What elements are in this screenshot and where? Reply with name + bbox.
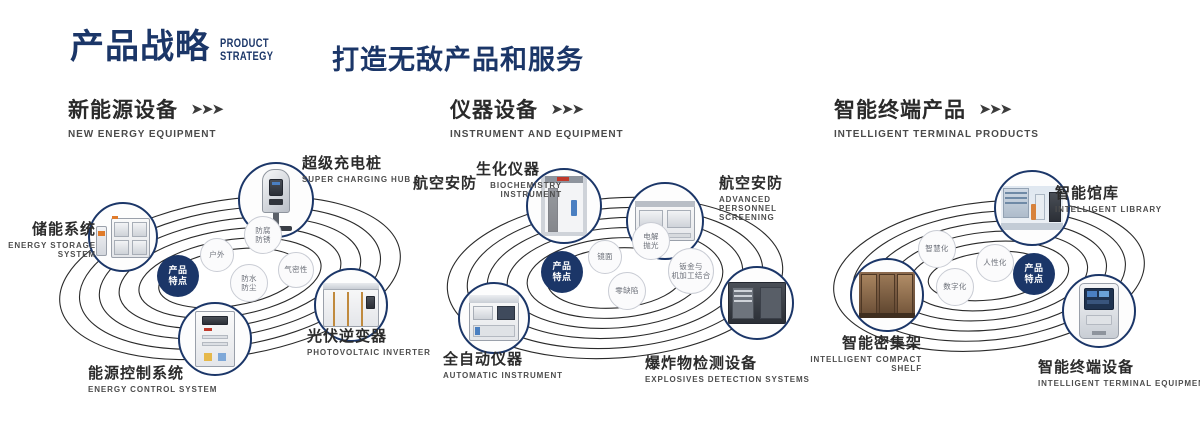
product-circle-compact-shelf[interactable] xyxy=(850,258,924,332)
page-subtitle: 打造无敌产品和服务 xyxy=(332,38,584,77)
product-circle-explosives-detector[interactable] xyxy=(720,266,794,340)
badge-line2: 特点 xyxy=(552,272,571,283)
label-cn: 智能终端设备 xyxy=(1038,356,1200,377)
section-title-en: NEW ENERGY EQUIPMENT xyxy=(68,129,222,140)
label-advanced-personnel-screening: 航空安防 ADVANCED PERSONNEL SCREENING xyxy=(719,172,823,222)
label-cn: 光伏逆变器 xyxy=(307,325,431,346)
label-en: ADVANCED PERSONNEL SCREENING xyxy=(719,195,823,222)
label-en: ENERGY CONTROL SYSTEM xyxy=(88,385,217,394)
feature-text: 数字化 xyxy=(943,282,966,292)
label-cn: 生化仪器 xyxy=(476,158,562,179)
feature-bubble-humanized[interactable]: 人性化 xyxy=(976,244,1014,282)
label-cn: 航空安防 xyxy=(719,172,823,193)
section-title-cn: 新能源设备 xyxy=(68,94,178,124)
chevrons-right-icon: ➤➤➤ xyxy=(550,100,582,118)
label-biochemistry-instrument: 生化仪器 BIOCHEMISTRY INSTRUMENT xyxy=(476,158,562,199)
feature-bubble-sheetmetal-machining[interactable]: 钣金与 机加工结合 xyxy=(668,248,714,294)
label-aviation-security-left: 航空安防 xyxy=(413,172,477,193)
label-cn: 智能馆库 xyxy=(1055,182,1162,203)
feature-text: 机加工结合 xyxy=(672,271,711,281)
chevrons-right-icon: ➤➤➤ xyxy=(190,100,222,118)
center-badge-new-energy[interactable]: 产品 特点 xyxy=(158,256,198,296)
label-intelligent-library: 智能馆库 INTELLIGENT LIBRARY xyxy=(1055,182,1162,214)
label-en: AUTOMATIC INSTRUMENT xyxy=(443,371,563,380)
feature-bubble-intelligent[interactable]: 智慧化 xyxy=(918,230,956,268)
label-en: ENERGY STORAGE SYSTEM xyxy=(0,241,96,259)
label-explosives-detection-systems: 爆炸物检测设备 EXPLOSIVES DETECTION SYSTEMS xyxy=(645,352,810,384)
label-en: SUPER CHARGING HUB xyxy=(302,175,411,184)
label-cn: 超级充电桩 xyxy=(302,152,411,173)
feature-text: 防锈 xyxy=(255,235,271,245)
label-en: INTELLIGENT LIBRARY xyxy=(1055,205,1162,214)
feature-text: 钣金与 xyxy=(679,262,702,272)
feature-bubble-zero-defect[interactable]: 零缺陷 xyxy=(608,272,646,310)
feature-text: 人性化 xyxy=(983,258,1006,268)
feature-text: 智慧化 xyxy=(925,244,948,254)
section-title-cn: 智能终端产品 xyxy=(834,94,966,124)
section-title-cn: 仪器设备 xyxy=(450,94,538,124)
product-circle-terminal-kiosk[interactable] xyxy=(1062,274,1136,348)
feature-text: 防水 xyxy=(241,274,257,284)
feature-bubble-electropolishing[interactable]: 电解 抛光 xyxy=(632,222,670,260)
feature-bubble-anticorrosion[interactable]: 防腐 防锈 xyxy=(244,216,282,254)
center-badge-terminal[interactable]: 产品 特点 xyxy=(1014,254,1054,294)
feature-text: 气密性 xyxy=(284,265,307,275)
label-energy-storage-system: 储能系统 ENERGY STORAGE SYSTEM xyxy=(0,218,96,259)
feature-bubble-waterproof[interactable]: 防水 防尘 xyxy=(230,264,268,302)
label-intelligent-compact-shelf: 智能密集架 INTELLIGENT COMPACT SHELF xyxy=(806,332,922,373)
feature-bubble-airtight[interactable]: 气密性 xyxy=(278,252,314,288)
label-en: BIOCHEMISTRY INSTRUMENT xyxy=(476,181,562,199)
feature-text: 电解 xyxy=(643,232,659,242)
page-title-en-line2: STRATEGY xyxy=(220,50,273,63)
label-automatic-instrument: 全自动仪器 AUTOMATIC INSTRUMENT xyxy=(443,348,563,380)
label-cn: 智能密集架 xyxy=(806,332,922,353)
product-circle-automatic-instrument[interactable] xyxy=(458,282,530,354)
feature-text: 防尘 xyxy=(241,283,257,293)
feature-text: 零缺陷 xyxy=(615,286,638,296)
feature-text: 户外 xyxy=(209,250,225,260)
section-title-new-energy: 新能源设备 ➤➤➤ NEW ENERGY EQUIPMENT xyxy=(68,94,222,140)
badge-line1: 产品 xyxy=(552,261,571,272)
label-en: INTELLIGENT TERMINAL EQUIPMENT xyxy=(1038,379,1200,388)
label-en: PHOTOVOLTAIC INVERTER xyxy=(307,348,431,357)
feature-bubble-outdoor[interactable]: 户外 xyxy=(200,238,234,272)
feature-text: 镜面 xyxy=(597,252,613,262)
section-title-instrument: 仪器设备 ➤➤➤ INSTRUMENT AND EQUIPMENT xyxy=(450,94,623,140)
label-energy-control-system: 能源控制系统 ENERGY CONTROL SYSTEM xyxy=(88,362,217,394)
feature-text: 抛光 xyxy=(643,241,659,251)
page-title-en: PRODUCT STRATEGY xyxy=(220,37,273,63)
label-cn: 能源控制系统 xyxy=(88,362,217,383)
label-cn: 储能系统 xyxy=(0,218,96,239)
product-circle-energy-storage[interactable] xyxy=(88,202,158,272)
label-cn: 爆炸物检测设备 xyxy=(645,352,810,373)
label-cn: 航空安防 xyxy=(413,172,477,193)
section-title-en: INSTRUMENT AND EQUIPMENT xyxy=(450,129,623,140)
badge-line2: 特点 xyxy=(1024,274,1043,285)
feature-bubble-digital[interactable]: 数字化 xyxy=(936,268,974,306)
label-super-charging-hub: 超级充电桩 SUPER CHARGING HUB xyxy=(302,152,411,184)
section-title-en: INTELLIGENT TERMINAL PRODUCTS xyxy=(834,129,1039,140)
label-cn: 全自动仪器 xyxy=(443,348,563,369)
feature-bubble-mirror-finish[interactable]: 镜面 xyxy=(588,240,622,274)
label-en: EXPLOSIVES DETECTION SYSTEMS xyxy=(645,375,810,384)
badge-line2: 特点 xyxy=(168,276,187,287)
label-photovoltaic-inverter: 光伏逆变器 PHOTOVOLTAIC INVERTER xyxy=(307,325,431,357)
chevrons-right-icon: ➤➤➤ xyxy=(978,100,1010,118)
badge-line1: 产品 xyxy=(1024,263,1043,274)
label-intelligent-terminal-equipment: 智能终端设备 INTELLIGENT TERMINAL EQUIPMENT xyxy=(1038,356,1200,388)
section-title-terminal: 智能终端产品 ➤➤➤ INTELLIGENT TERMINAL PRODUCTS xyxy=(834,94,1039,140)
page-title: 产品战略 xyxy=(70,28,210,66)
page-header: 产品战略 PRODUCT STRATEGY xyxy=(70,28,288,66)
product-strategy-infographic: 产品战略 PRODUCT STRATEGY 打造无敌产品和服务 新能源设备 ➤➤… xyxy=(0,0,1200,422)
center-badge-instrument[interactable]: 产品 特点 xyxy=(542,252,582,292)
label-en: INTELLIGENT COMPACT SHELF xyxy=(806,355,922,373)
badge-line1: 产品 xyxy=(168,265,187,276)
feature-text: 防腐 xyxy=(255,226,271,236)
